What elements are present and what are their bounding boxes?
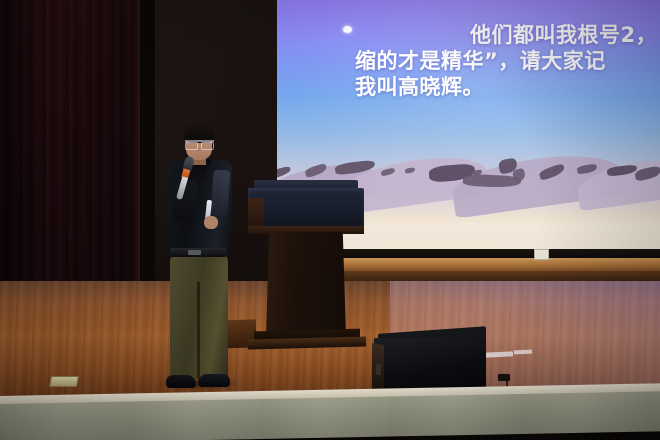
- podium-body: [266, 232, 346, 336]
- paper-scrap-2: [514, 350, 532, 355]
- stage-presentation-photo: 他们都叫我根号2， 缩的才是精华”，请大家记 我叫高晓辉。: [0, 0, 660, 440]
- slide-line-1: 他们都叫我根号2，: [277, 22, 660, 48]
- slide-line-3: 我叫高晓辉。: [277, 74, 660, 100]
- podium-base-lower: [248, 336, 366, 349]
- wall-socket: [534, 249, 549, 260]
- monitor-handle: [376, 364, 381, 375]
- monitor-cable-plug: [498, 374, 510, 381]
- presenter-belt-buckle: [188, 250, 201, 255]
- wooden-podium-lectern: [246, 180, 366, 370]
- podium-head: [248, 188, 364, 230]
- presenter-hand-right: [204, 216, 218, 229]
- presenter-speaker: [160, 122, 238, 400]
- floor-outlet-plate: [49, 376, 79, 387]
- slide-text-block: 他们都叫我根号2， 缩的才是精华”，请大家记 我叫高晓辉。: [277, 22, 660, 100]
- presenter-jacket-highlight: [210, 169, 230, 216]
- slide-line-2: 缩的才是精华”，请大家记: [277, 48, 660, 74]
- presenter-shoe-right: [198, 374, 230, 387]
- presenter-leg-seam: [197, 282, 200, 379]
- presenter-shoe-left: [166, 375, 196, 388]
- eyeglasses-icon: [185, 140, 214, 149]
